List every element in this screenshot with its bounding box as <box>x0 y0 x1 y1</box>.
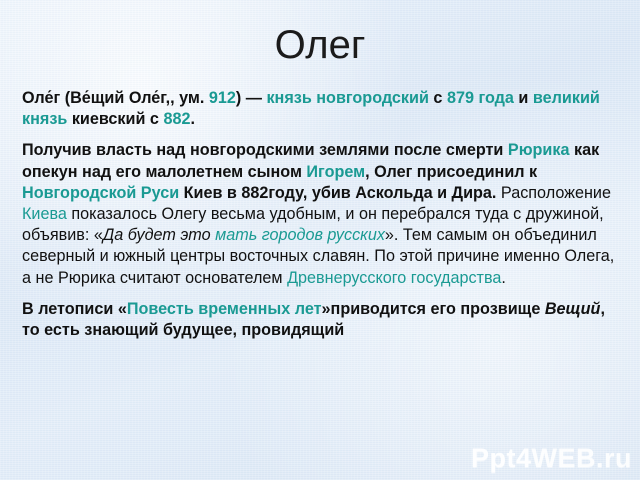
link-drevnerusskogo-gosudarstva[interactable]: Древнерусского государства <box>287 269 501 287</box>
presentation-slide: Олег Оле́г (Ве́щий Оле́г,, ум. 912) — кн… <box>0 0 640 480</box>
text-prisoedinil: , Олег присоединил к <box>365 163 537 181</box>
link-912[interactable]: 912 <box>209 89 236 107</box>
text-i: и <box>514 89 533 107</box>
paragraph-chronicle: В летописи «Повесть временных лет»привод… <box>22 299 620 341</box>
link-povest-vremennyh-let[interactable]: Повесть временных лет <box>127 300 322 318</box>
link-novgorodskaya-rus[interactable]: Новгородской Руси <box>22 184 179 202</box>
text-poluchiv-vlast: Получив власть над новгородскими землями… <box>22 141 508 159</box>
link-knyaz-novgorodskiy[interactable]: князь новгородский <box>266 89 428 107</box>
watermark-prefix: Ppt4 <box>471 443 532 473</box>
text-period-2: . <box>501 269 506 287</box>
link-879-goda[interactable]: 879 года <box>447 89 514 107</box>
watermark: Ppt4WEB.ru <box>471 443 632 474</box>
text-v-letopisi: В летописи « <box>22 300 127 318</box>
link-igor[interactable]: Игорем <box>306 163 365 181</box>
text-s-1: с <box>429 89 447 107</box>
link-rurik[interactable]: Рюрика <box>508 141 570 159</box>
link-kieva[interactable]: Киева <box>22 205 67 223</box>
text-raspolozhenie: Расположение <box>496 184 611 202</box>
text-oleg-intro: Оле́г (Ве́щий Оле́г,, ум. <box>22 89 209 107</box>
text-italic-da-budet: Да будет это <box>103 226 215 244</box>
paragraph-intro: Оле́г (Ве́щий Оле́г,, ум. 912) — князь н… <box>22 88 620 130</box>
slide-body: Оле́г (Ве́щий Оле́г,, ум. 912) — князь н… <box>22 88 620 341</box>
slide-title: Олег <box>0 22 640 68</box>
text-kiev-882: Киев в 882году, убив Аскольда и Дира. <box>179 184 496 202</box>
paragraph-history: Получив власть над новгородскими землями… <box>22 140 620 288</box>
watermark-suffix: WEB.ru <box>532 443 633 473</box>
text-kievskiy: киевский с <box>67 110 163 128</box>
text-dash: ) — <box>236 89 267 107</box>
text-italic-veshiy: Вещий <box>545 300 601 318</box>
text-privoditsya: »приводится его прозвище <box>322 300 545 318</box>
text-period-1: . <box>190 110 195 128</box>
link-mat-gorodov-russkih[interactable]: мать городов русских <box>215 226 385 244</box>
link-882[interactable]: 882 <box>163 110 190 128</box>
